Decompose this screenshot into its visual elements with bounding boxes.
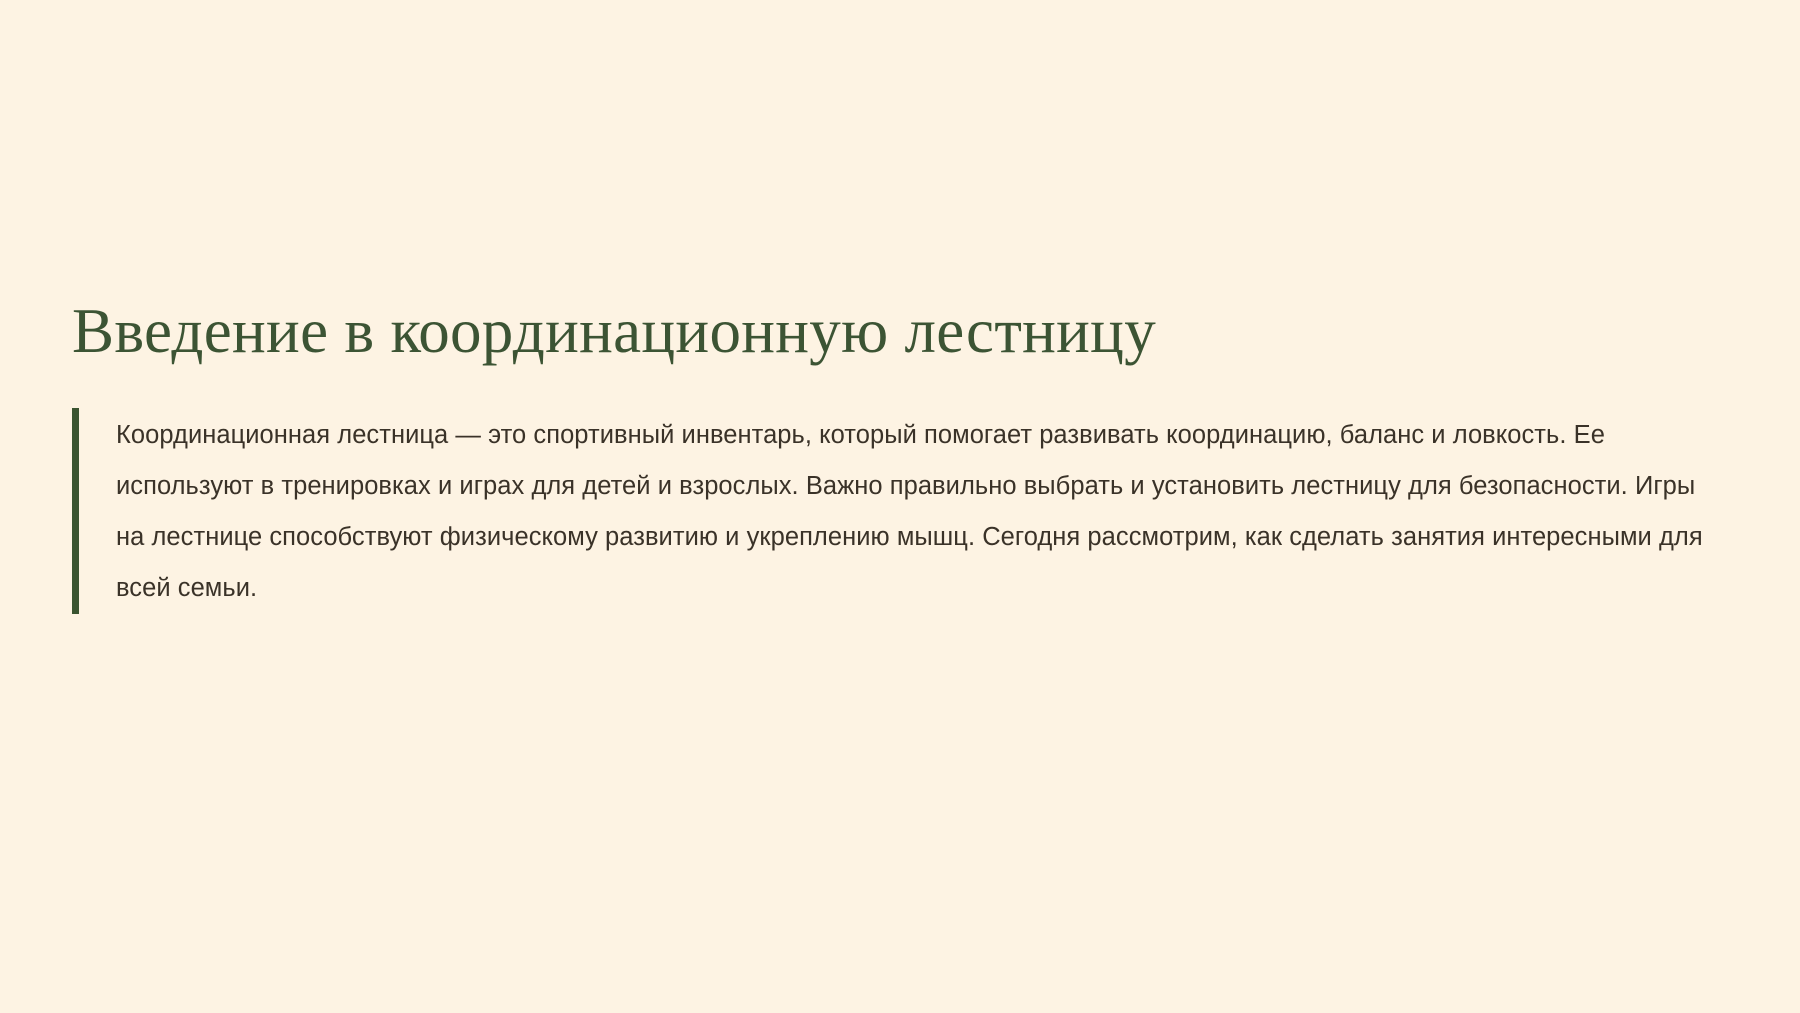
content-block: Введение в координационную лестницу Коор… [72, 296, 1712, 614]
callout-block: Координационная лестница — это спортивны… [72, 408, 1712, 614]
accent-bar [72, 408, 79, 614]
body-paragraph: Координационная лестница — это спортивны… [116, 410, 1712, 614]
page-title: Введение в координационную лестницу [72, 296, 1712, 367]
body-text: Координационная лестница — это спортивны… [79, 408, 1712, 614]
slide-canvas: Введение в координационную лестницу Коор… [0, 0, 1800, 1013]
